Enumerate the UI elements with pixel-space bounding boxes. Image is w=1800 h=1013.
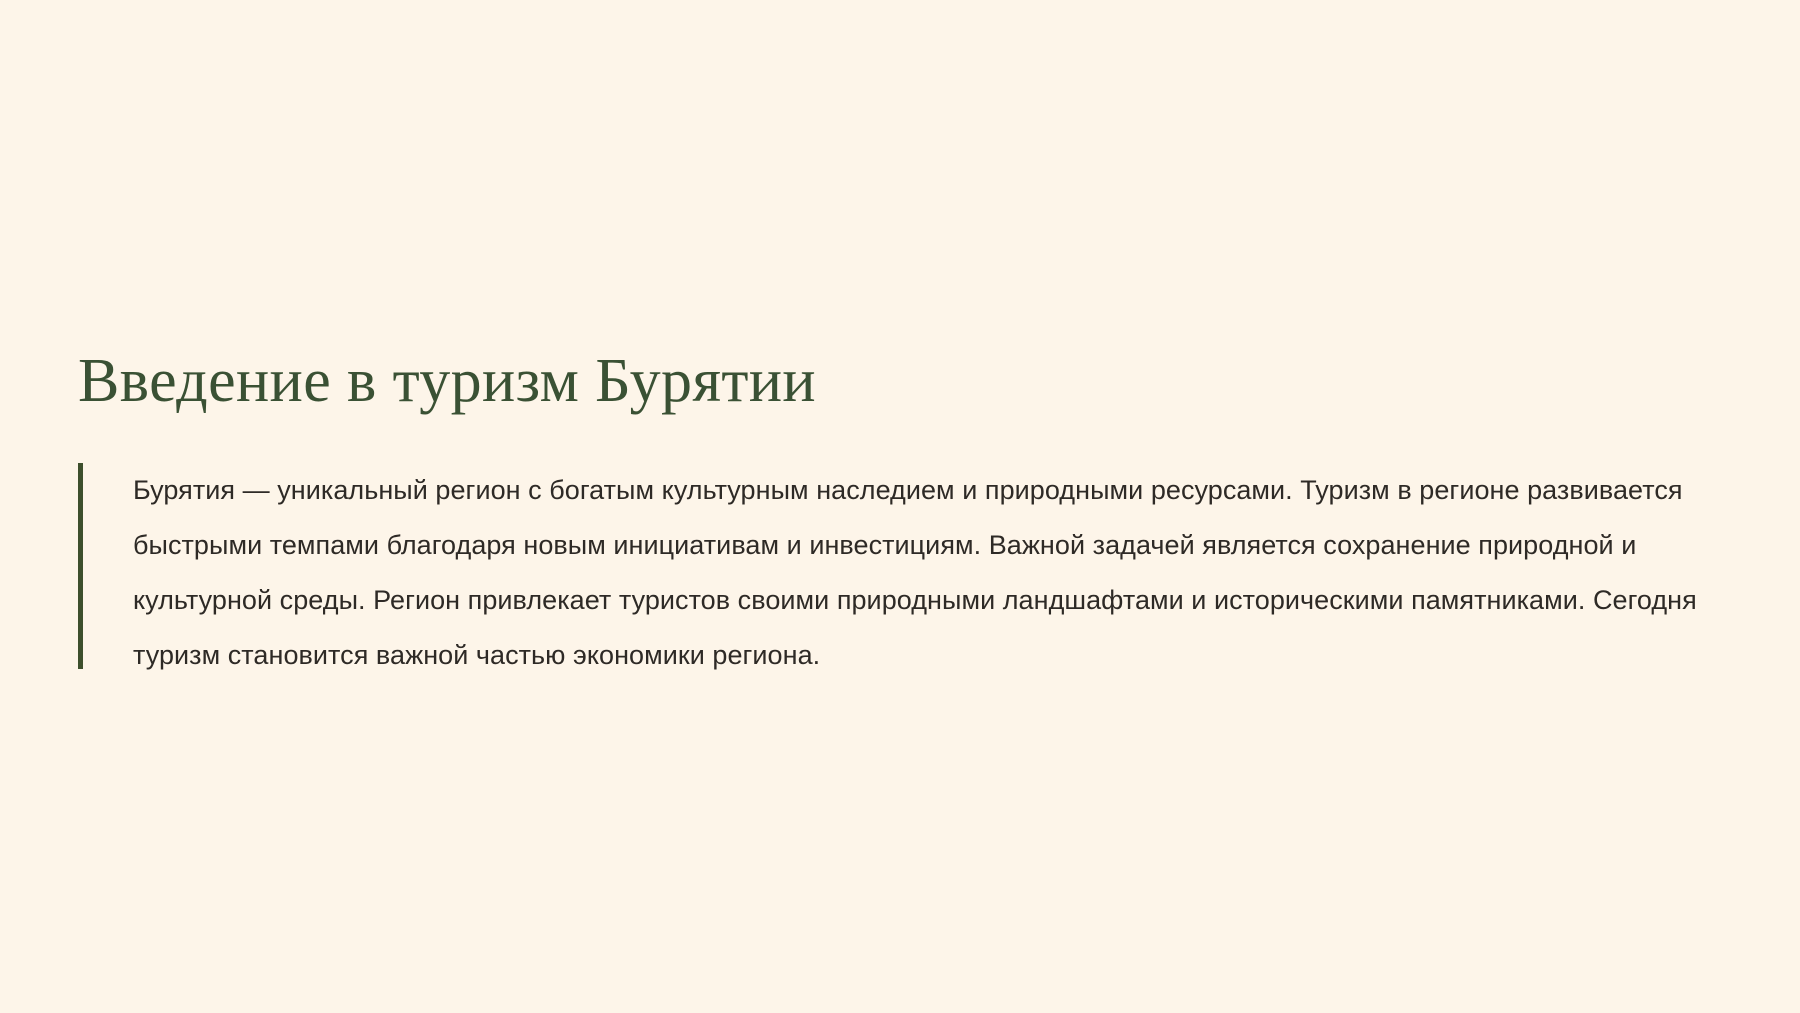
accent-bar xyxy=(78,463,83,669)
intro-callout-block: Бурятия — уникальный регион с богатым ку… xyxy=(78,463,1738,683)
intro-paragraph: Бурятия — уникальный регион с богатым ку… xyxy=(133,463,1733,683)
slide-content: Введение в туризм Бурятии Бурятия — уник… xyxy=(78,344,1738,683)
page-title: Введение в туризм Бурятии xyxy=(78,344,1738,418)
slide-root: Введение в туризм Бурятии Бурятия — уник… xyxy=(0,0,1800,1013)
